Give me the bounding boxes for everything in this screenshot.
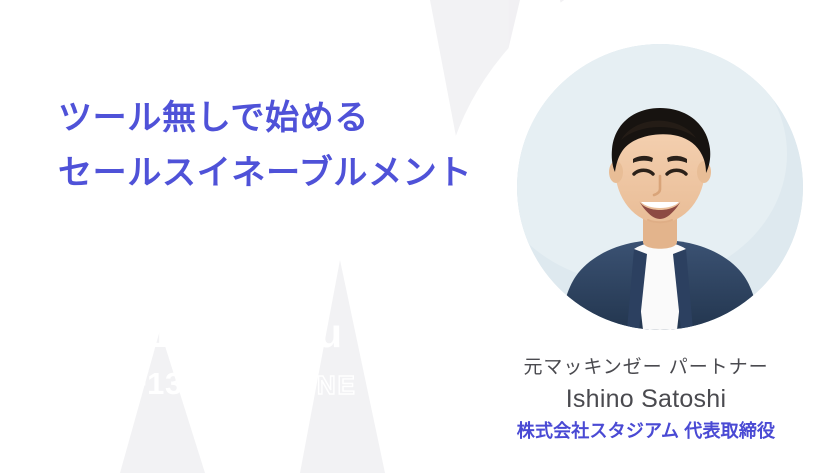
- speaker-portrait-illustration: [517, 44, 803, 330]
- page-title: ツール無しで始める セールスイネーブルメント: [48, 93, 482, 199]
- seminar-banner: 営業の「型作り」あきらめてませんか？ ツール無しで始める セールスイネーブルメン…: [0, 0, 840, 473]
- speaker-info: 元マッキンゼー パートナー Ishino Satoshi 株式会社スタジアム 代…: [470, 356, 822, 444]
- kicker-text: 営業の「型作り」あきらめてませんか？: [40, 42, 363, 65]
- title-line-1: ツール無しで始める: [48, 93, 379, 144]
- speaker-role: 元マッキンゼー パートナー: [470, 356, 822, 380]
- speaker-name: Ishino Satoshi: [470, 383, 822, 416]
- title-line-2: セールスイネーブルメント: [48, 148, 482, 199]
- event-date: 2023.12.07 Thu: [45, 313, 342, 354]
- lede-line-2: 型作りワークショップ: [50, 254, 370, 286]
- lede-line-1: 社員の成果のばらつきを改善する: [50, 222, 370, 254]
- event-format-badge: ONLINE: [248, 372, 357, 398]
- speaker-company: 株式会社スタジアム 代表取締役: [470, 420, 822, 443]
- speaker-photo: [517, 44, 803, 330]
- event-time-row: 12:00−13:00 ONLINE: [46, 368, 357, 399]
- lede-text: 社員の成果のばらつきを改善する 型作りワークショップ: [50, 222, 370, 286]
- event-time: 12:00−13:00: [46, 368, 230, 399]
